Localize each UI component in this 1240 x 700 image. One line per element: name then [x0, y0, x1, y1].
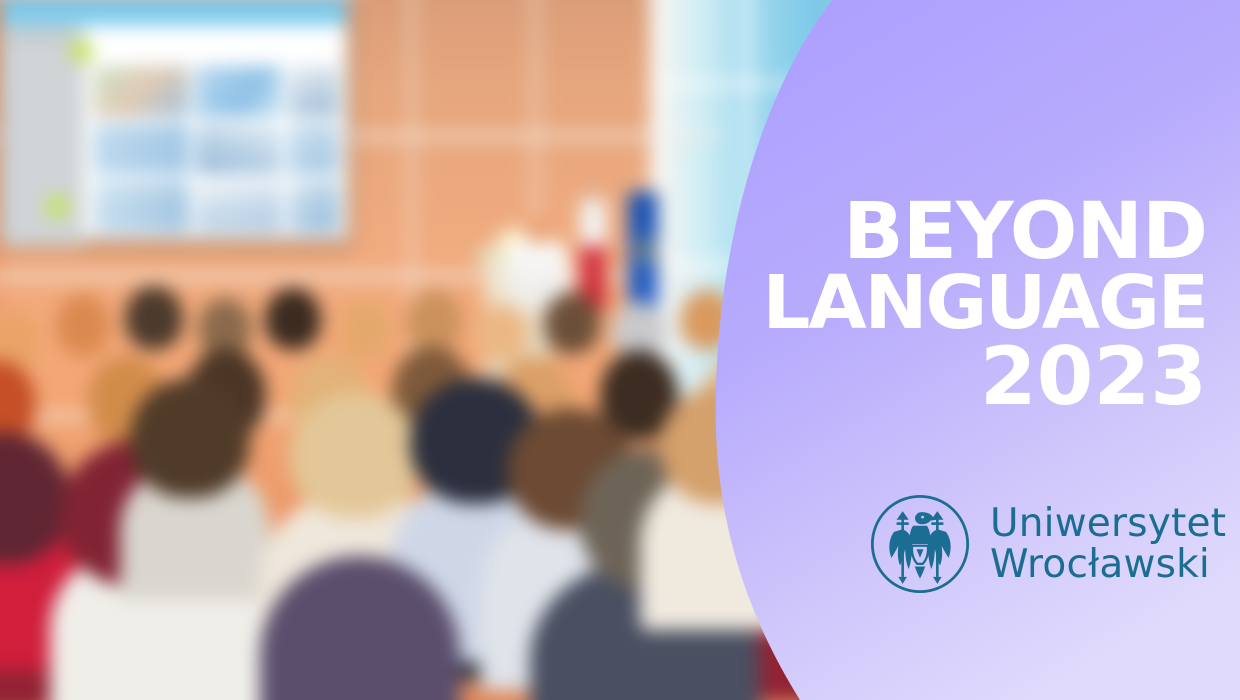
- window-bar: [650, 80, 950, 88]
- screen-top-band: [2, 0, 346, 26]
- audience-head: [338, 300, 392, 360]
- audience-head: [265, 288, 321, 350]
- poster-headline: BEYOND LANGUAGE 2023: [687, 196, 1207, 415]
- audience-head: [290, 392, 420, 518]
- headline-line-2: LANGUAGE: [677, 269, 1207, 338]
- slide-thumbnail-grid: [94, 66, 338, 232]
- slide-thumbnail: [94, 66, 189, 117]
- slide-note-icon: [70, 40, 92, 62]
- university-crest-eagle-icon: [868, 492, 972, 596]
- slide-title-bar: [8, 32, 70, 37]
- slide-thumbnail: [289, 181, 338, 232]
- slide-thumbnail: [196, 66, 281, 117]
- audience-head: [544, 292, 600, 354]
- audience-head: [130, 378, 250, 498]
- slide-thumbnail: [196, 124, 281, 175]
- headline-line-3: 2023: [677, 340, 1207, 415]
- audience-head: [406, 290, 462, 352]
- slide-thumbnail: [196, 181, 281, 232]
- university-logo: Uniwersytet Wrocławski: [868, 492, 1226, 596]
- slide-thumbnail: [289, 66, 338, 117]
- speaker-head: [526, 218, 550, 244]
- university-name-line-2: Wrocławski: [990, 544, 1226, 585]
- slide-note-icon: [46, 196, 70, 218]
- slide-thumbnail: [94, 124, 189, 175]
- slide-thumbnail: [94, 181, 189, 232]
- headline-line-1: BEYOND: [677, 196, 1207, 269]
- audience-head: [476, 304, 528, 362]
- conference-poster: BEYOND LANGUAGE 2023: [0, 0, 1240, 700]
- university-name-line-1: Uniwersytet: [990, 503, 1226, 544]
- university-name: Uniwersytet Wrocławski: [990, 503, 1226, 586]
- projection-screen-icon: [0, 0, 350, 242]
- audience-head: [125, 286, 183, 350]
- slide-thumbnail: [289, 124, 338, 175]
- audience-head: [56, 294, 110, 356]
